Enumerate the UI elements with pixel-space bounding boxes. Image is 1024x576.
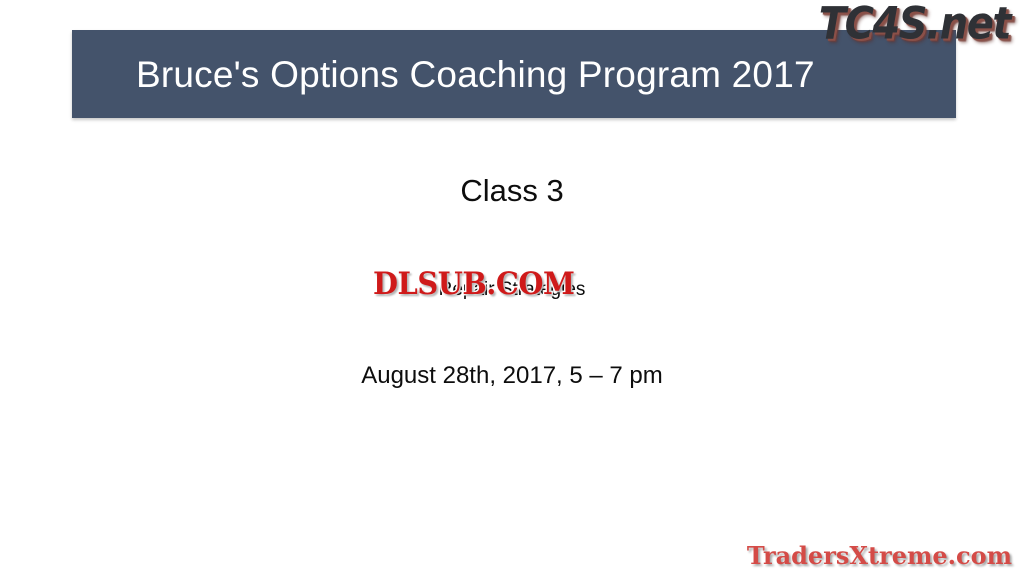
presentation-slide: Bruce's Options Coaching Program 2017 Cl…	[0, 0, 1024, 576]
slide-title-banner: Bruce's Options Coaching Program 2017	[72, 30, 956, 118]
watermark-tradersxtreme-com: TradersXtreme.com	[747, 541, 1012, 570]
slide-line-class: Class 3	[0, 173, 1024, 209]
slide-line-date: August 28th, 2017, 5 – 7 pm	[0, 362, 1024, 390]
slide-line-subject: Repair Strategies	[0, 279, 1024, 301]
slide-title: Bruce's Options Coaching Program 2017	[136, 56, 815, 93]
